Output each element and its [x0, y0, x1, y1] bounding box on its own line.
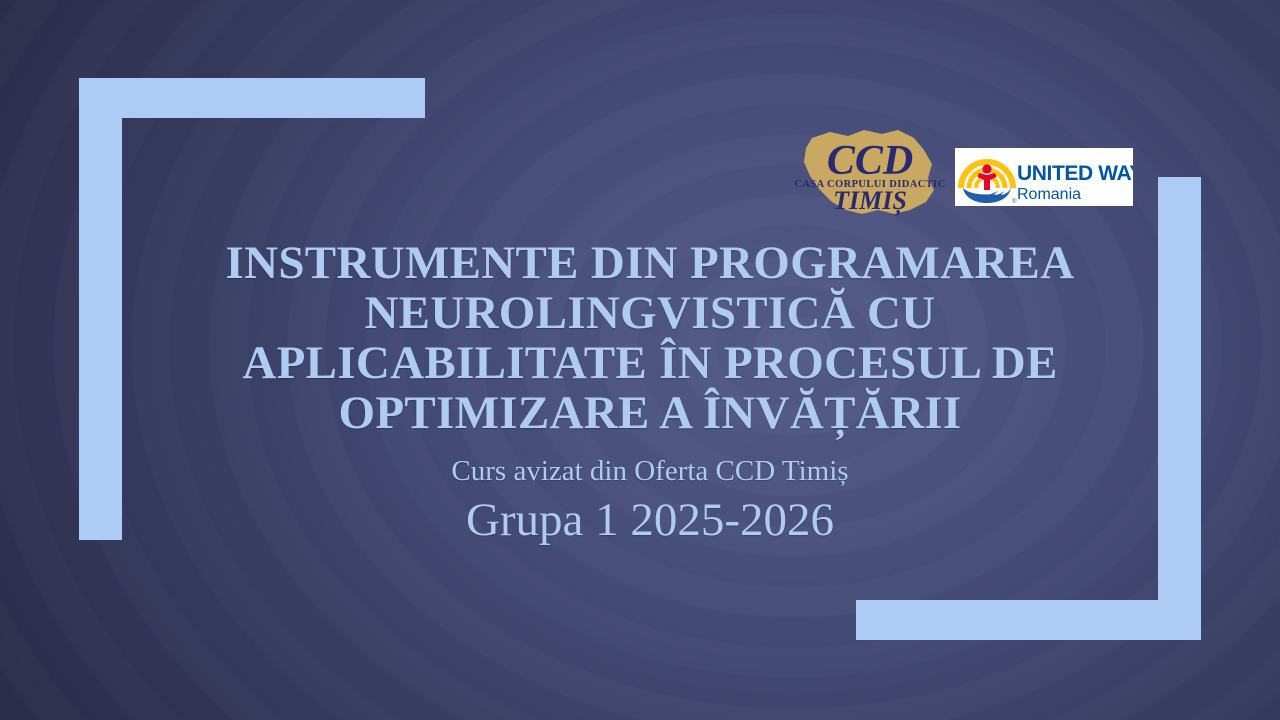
- registered-trademark-icon: ®: [1012, 198, 1017, 205]
- united-way-romania-logo: UNITED WAY Romania ®: [955, 148, 1133, 206]
- ccd-acronym-text: CCD: [827, 138, 913, 184]
- united-way-name-text: UNITED WAY: [1017, 162, 1133, 185]
- title-line-3: APLICABILITATE ÎN PROCESUL DE: [150, 338, 1150, 388]
- title-line-1: INSTRUMENTE DIN PROGRAMAREA: [150, 238, 1150, 288]
- title-line-2: NEUROLINGVISTICĂ CU: [150, 288, 1150, 338]
- ccd-timis-logo: CCD CASA CORPULUI DIDACTIC TIMIȘ: [790, 124, 950, 220]
- corner-bracket-bottom-right-horizontal: [856, 600, 1201, 640]
- title-text-block: INSTRUMENTE DIN PROGRAMAREA NEUROLINGVIS…: [150, 238, 1150, 548]
- corner-bracket-bottom-right-vertical: [1158, 177, 1201, 640]
- united-way-country-text: Romania: [1017, 186, 1081, 203]
- presentation-title-slide: CCD CASA CORPULUI DIDACTIC TIMIȘ: [0, 0, 1280, 720]
- corner-bracket-top-left-vertical: [79, 78, 122, 540]
- subtitle-group-year: Grupa 1 2025-2026: [150, 492, 1150, 548]
- ccd-county-text: TIMIȘ: [833, 186, 907, 216]
- logo-group: CCD CASA CORPULUI DIDACTIC TIMIȘ: [790, 124, 1140, 220]
- subtitle-course-note: Curs avizat din Oferta CCD Timiș: [150, 450, 1150, 492]
- title-line-4: OPTIMIZARE A ÎNVĂȚĂRII: [150, 388, 1150, 438]
- corner-bracket-top-left-horizontal: [79, 78, 425, 118]
